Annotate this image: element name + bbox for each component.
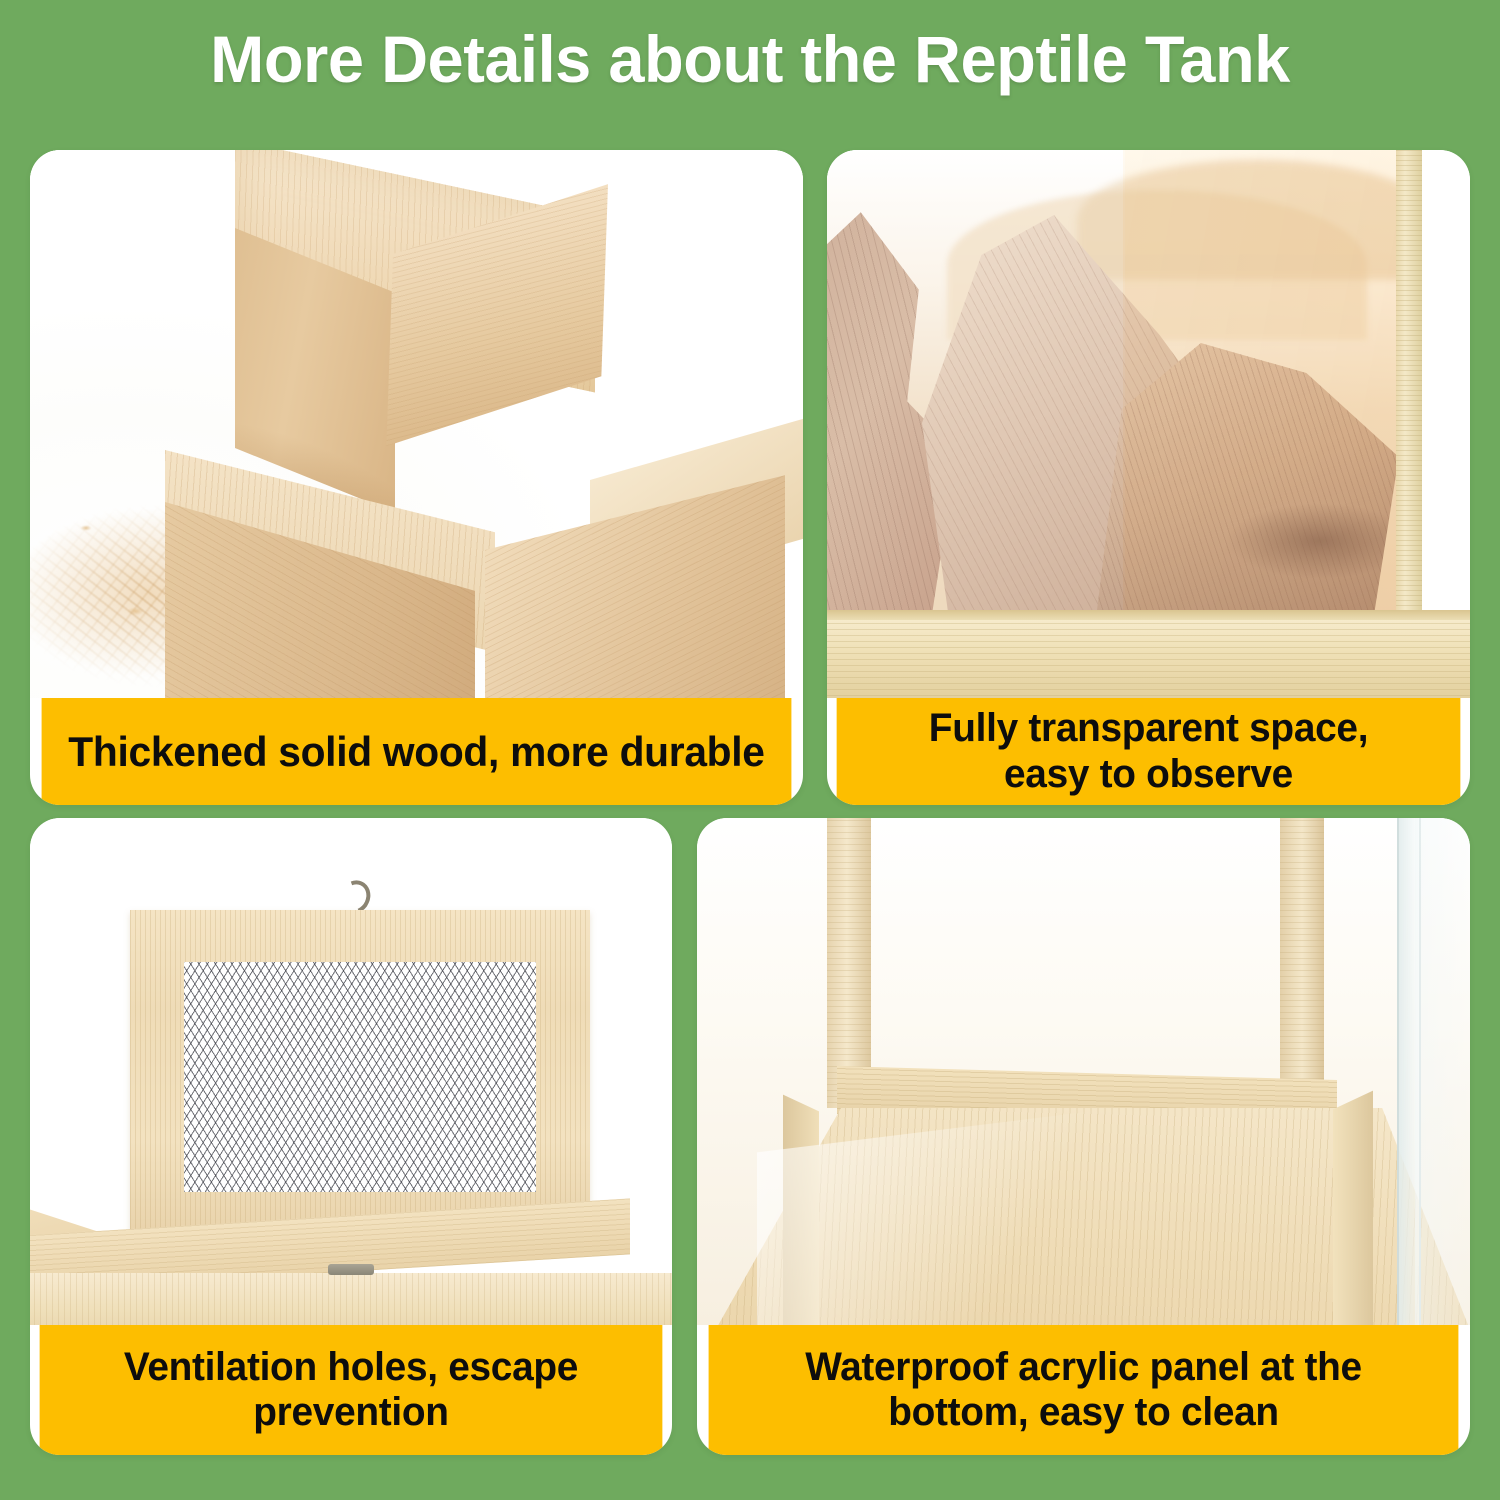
tank-post-right <box>1280 818 1324 1098</box>
page-title: More Details about the Reptile Tank <box>11 26 1489 92</box>
caption-line: bottom, easy to clean <box>805 1390 1362 1435</box>
mesh-lid-frame <box>130 910 590 1240</box>
feature-card-thickened-solid-wood: Thickened solid wood, more durable <box>30 150 803 805</box>
feature-card-fully-transparent-space: Fully transparent space, easy to observe <box>827 150 1470 805</box>
caption-line: easy to observe <box>929 752 1368 797</box>
infographic-page: More Details about the Reptile Tank Thic… <box>0 0 1500 1500</box>
wood-frame-bottom-rail <box>827 620 1470 698</box>
photo-thickened-solid-wood <box>30 150 803 698</box>
floor-lip-right <box>1333 1091 1373 1325</box>
caption-line: prevention <box>124 1390 578 1435</box>
photo-ventilation-holes <box>30 818 672 1325</box>
transparent-panel-overlay <box>1123 150 1419 620</box>
desert-scene <box>827 150 1419 620</box>
caption-ventilation-holes: Ventilation holes, escape prevention <box>40 1325 663 1455</box>
lid-hinge <box>328 1264 374 1275</box>
photo-waterproof-acrylic-panel <box>697 818 1470 1325</box>
tank-front-rail <box>30 1273 672 1325</box>
clear-side-panel <box>1415 818 1470 1325</box>
caption-thickened-solid-wood: Thickened solid wood, more durable <box>42 698 792 805</box>
tank-post-left <box>827 818 871 1108</box>
wire-mesh-screen <box>184 962 536 1192</box>
caption-line: Thickened solid wood, more durable <box>68 728 764 775</box>
feature-card-ventilation-holes: Ventilation holes, escape prevention <box>30 818 672 1455</box>
caption-waterproof-acrylic-panel: Waterproof acrylic panel at the bottom, … <box>709 1325 1459 1455</box>
caption-fully-transparent-space: Fully transparent space, easy to observe <box>837 698 1461 805</box>
caption-line: Waterproof acrylic panel at the <box>805 1345 1362 1390</box>
feature-card-waterproof-acrylic-panel: Waterproof acrylic panel at the bottom, … <box>697 818 1470 1455</box>
caption-line: Fully transparent space, <box>929 706 1368 751</box>
floor-lip-left <box>783 1095 819 1325</box>
photo-fully-transparent-space <box>827 150 1470 698</box>
wood-frame-right-rail <box>1396 150 1422 680</box>
caption-line: Ventilation holes, escape <box>124 1345 578 1390</box>
